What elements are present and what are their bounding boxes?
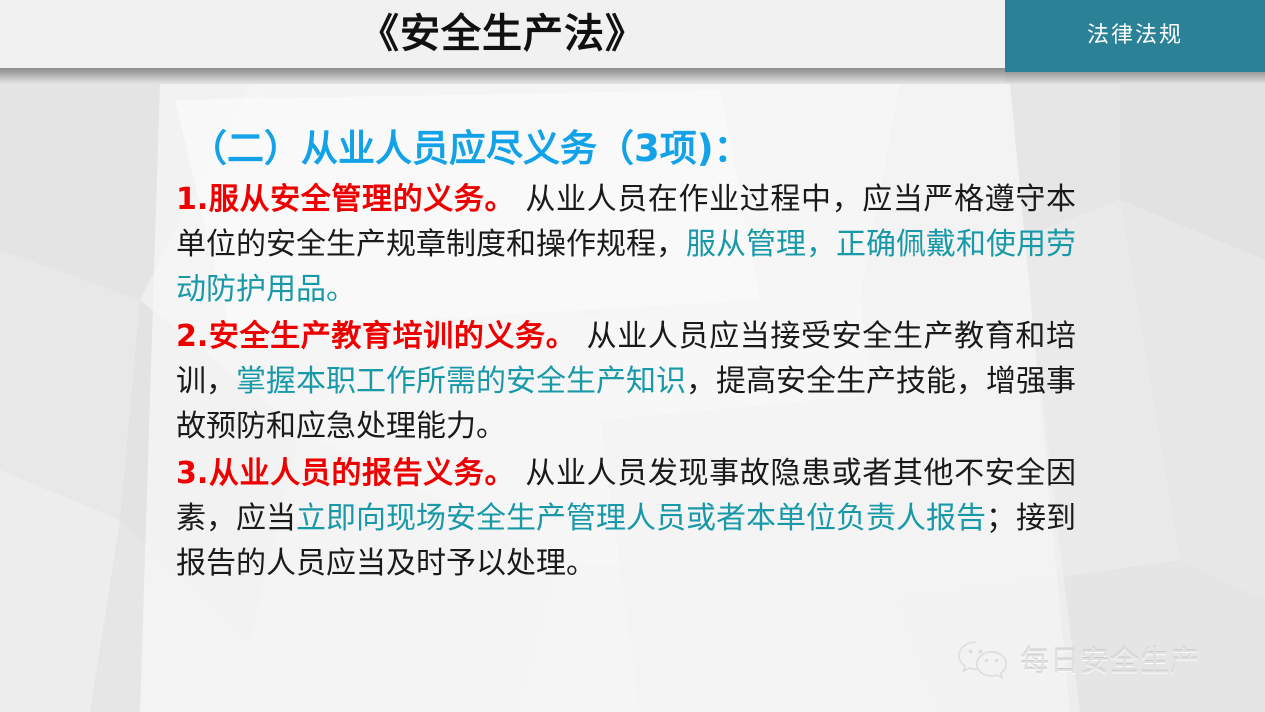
slide-canvas: 《安全生产法》 法律法规 （二）从业人员应尽义务（3项)： 1.服从安全管理的义… xyxy=(0,0,1265,712)
item-lead: 从业人员的报告义务。 xyxy=(208,456,515,491)
section-heading: （二）从业人员应尽义务（3项)： xyxy=(190,128,1076,171)
header-tag-shadow-strip xyxy=(1005,72,1265,84)
watermark-text: 每日安全生产 xyxy=(1020,638,1200,680)
item-highlight: 掌握本职工作所需的安全生产知识 xyxy=(236,364,686,399)
item-lead: 安全生产教育培训的义务。 xyxy=(208,319,576,354)
item-lead: 服从安全管理的义务。 xyxy=(208,182,515,217)
content-body: （二）从业人员应尽义务（3项)： 1.服从安全管理的义务。 从业人员在作业过程中… xyxy=(176,128,1076,588)
item-index: 1. xyxy=(176,182,208,217)
page-title: 《安全生产法》 xyxy=(0,0,1005,68)
list-item: 2.安全生产教育培训的义务。 从业人员应当接受安全生产教育和培训，掌握本职工作所… xyxy=(176,314,1076,449)
item-index: 3. xyxy=(176,456,208,491)
list-item: 1.服从安全管理的义务。 从业人员在作业过程中，应当严格遵守本单位的安全生产规章… xyxy=(176,177,1076,312)
watermark: 每日安全生产 xyxy=(955,638,1200,680)
item-highlight: 立即向现场安全生产管理人员或者本单位负责人报告 xyxy=(296,501,986,536)
header-shadow-strip xyxy=(0,68,1005,84)
wechat-icon xyxy=(955,639,1011,679)
list-item: 3.从业人员的报告义务。 从业人员发现事故隐患或者其他不安全因素，应当立即向现场… xyxy=(176,451,1076,586)
item-index: 2. xyxy=(176,319,208,354)
header-category-label: 法律法规 xyxy=(1005,0,1265,72)
